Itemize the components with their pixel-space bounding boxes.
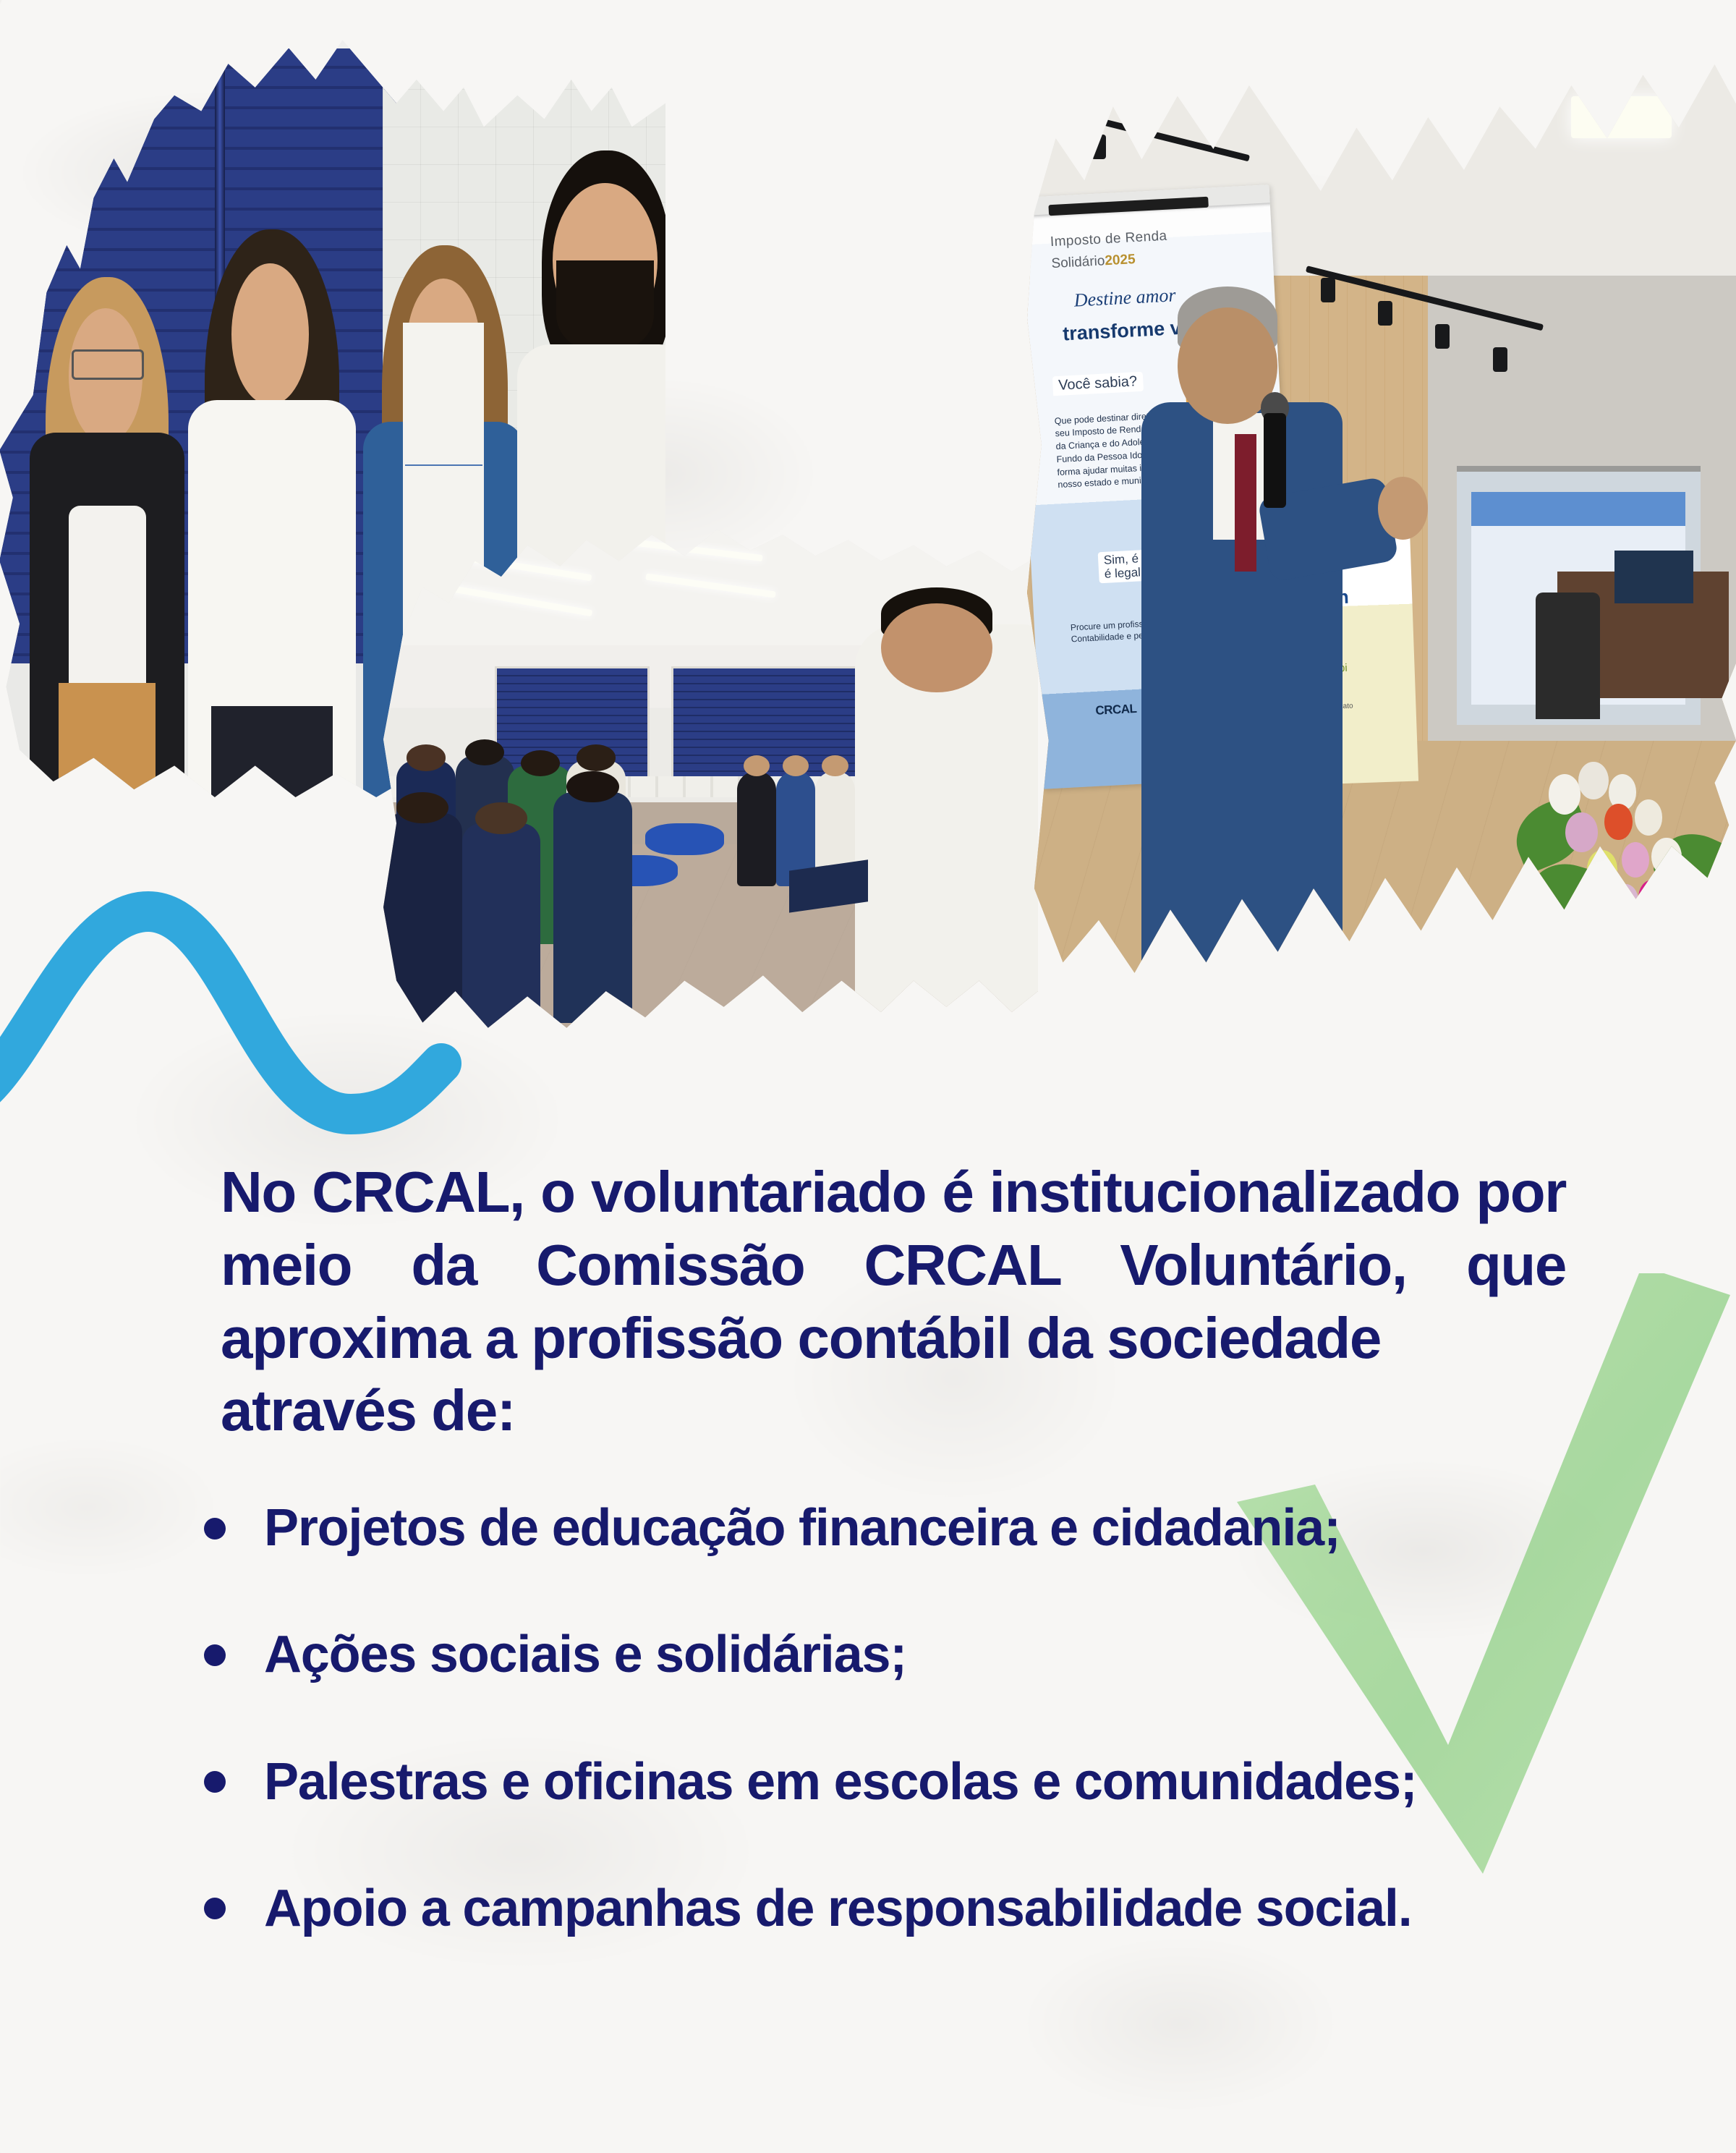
list-item-label: Ações sociais e solidárias; [264,1626,906,1683]
list-item: Ações sociais e solidárias; [195,1626,1736,1683]
banner-year: 2025 [1105,252,1136,269]
list-item: Projetos de educação financeira e cidada… [195,1500,1736,1557]
list-item-label: Palestras e oficinas em escolas e comuni… [264,1753,1417,1811]
crcal-logo: CRCAL [1095,702,1137,718]
banner-title-line1: Imposto de Renda [1050,229,1167,250]
list-item-label: Apoio a campanhas de responsabilidade so… [264,1880,1412,1937]
page-heading: No CRCAL, o voluntariado é institucional… [221,1156,1566,1448]
bullet-dot-icon [204,1644,226,1666]
banner-question: Você sabia? [1052,373,1144,397]
bullet-dot-icon [204,1518,226,1540]
person-woman-1 [27,277,188,797]
heading-line-4: através de: [221,1375,1566,1448]
person-woman-2 [188,229,357,797]
bullet-dot-icon [204,1898,226,1919]
heading-line-1: No CRCAL, o voluntariado é institucional… [221,1160,1460,1224]
main-text-block: No CRCAL, o voluntariado é institucional… [0,1156,1736,1937]
list-item: Palestras e oficinas em escolas e comuni… [195,1754,1736,1811]
banner-script-line: Destine amor [1073,284,1176,311]
list-item: Apoio a campanhas de responsabilidade so… [195,1880,1736,1937]
benefits-list: Projetos de educação financeira e cidada… [0,1500,1736,1937]
poster-canvas: Imposto de Renda Solidário2025 Destine a… [0,0,1736,2153]
list-item-label: Projetos de educação financeira e cidada… [264,1499,1340,1557]
banner-title-line2: Solidário2025 [1051,252,1136,273]
photo-classroom-lecture [383,530,1038,1054]
heading-line-3: aproxima a profissão contábil da socieda… [221,1306,1381,1370]
bullet-dot-icon [204,1771,226,1793]
